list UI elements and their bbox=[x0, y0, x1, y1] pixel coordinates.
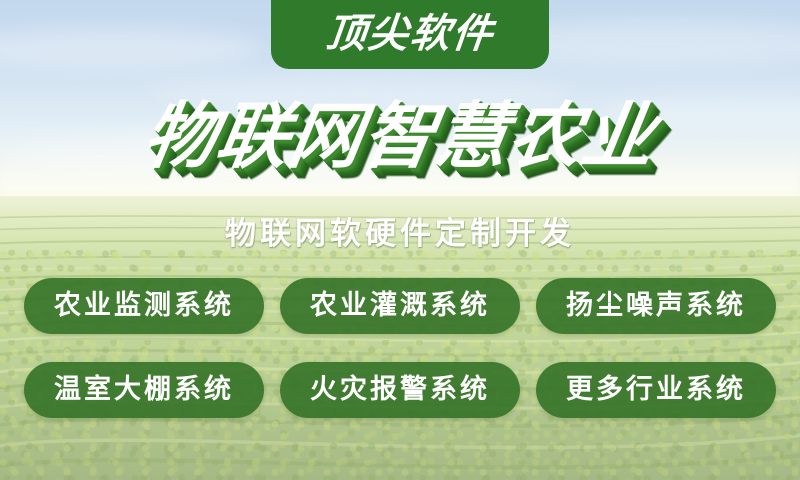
service-pill-agri-irrigation[interactable]: 农业灌溉系统 bbox=[280, 278, 520, 334]
page-subtitle: 物联网软硬件定制开发 bbox=[0, 208, 800, 253]
pill-label: 更多行业系统 bbox=[566, 376, 746, 405]
service-pill-greenhouse[interactable]: 温室大棚系统 bbox=[24, 362, 264, 418]
pill-label: 农业监测系统 bbox=[54, 292, 234, 321]
pill-label: 农业灌溉系统 bbox=[310, 292, 490, 321]
service-pill-agri-monitoring[interactable]: 农业监测系统 bbox=[24, 278, 264, 334]
service-pill-dust-noise[interactable]: 扬尘噪声系统 bbox=[536, 278, 776, 334]
brand-name: 顶尖软件 bbox=[324, 14, 496, 56]
pill-label: 温室大棚系统 bbox=[54, 376, 234, 405]
service-pill-fire-alarm[interactable]: 火灾报警系统 bbox=[280, 362, 520, 418]
headline-block: 物联网智慧农业 bbox=[0, 92, 800, 180]
poster-canvas: 顶尖软件 物联网智慧农业 物联网软硬件定制开发 农业监测系统 农业灌溉系统 扬尘… bbox=[0, 0, 800, 480]
page-title: 物联网智慧农业 bbox=[139, 100, 661, 172]
pill-label: 火灾报警系统 bbox=[310, 376, 490, 405]
poster-content: 顶尖软件 物联网智慧农业 物联网软硬件定制开发 农业监测系统 农业灌溉系统 扬尘… bbox=[0, 0, 800, 480]
service-pill-grid: 农业监测系统 农业灌溉系统 扬尘噪声系统 温室大棚系统 火灾报警系统 更多行业系… bbox=[24, 278, 776, 418]
pill-label: 扬尘噪声系统 bbox=[566, 292, 746, 321]
service-pill-more-industries[interactable]: 更多行业系统 bbox=[536, 362, 776, 418]
brand-banner: 顶尖软件 bbox=[271, 0, 549, 69]
